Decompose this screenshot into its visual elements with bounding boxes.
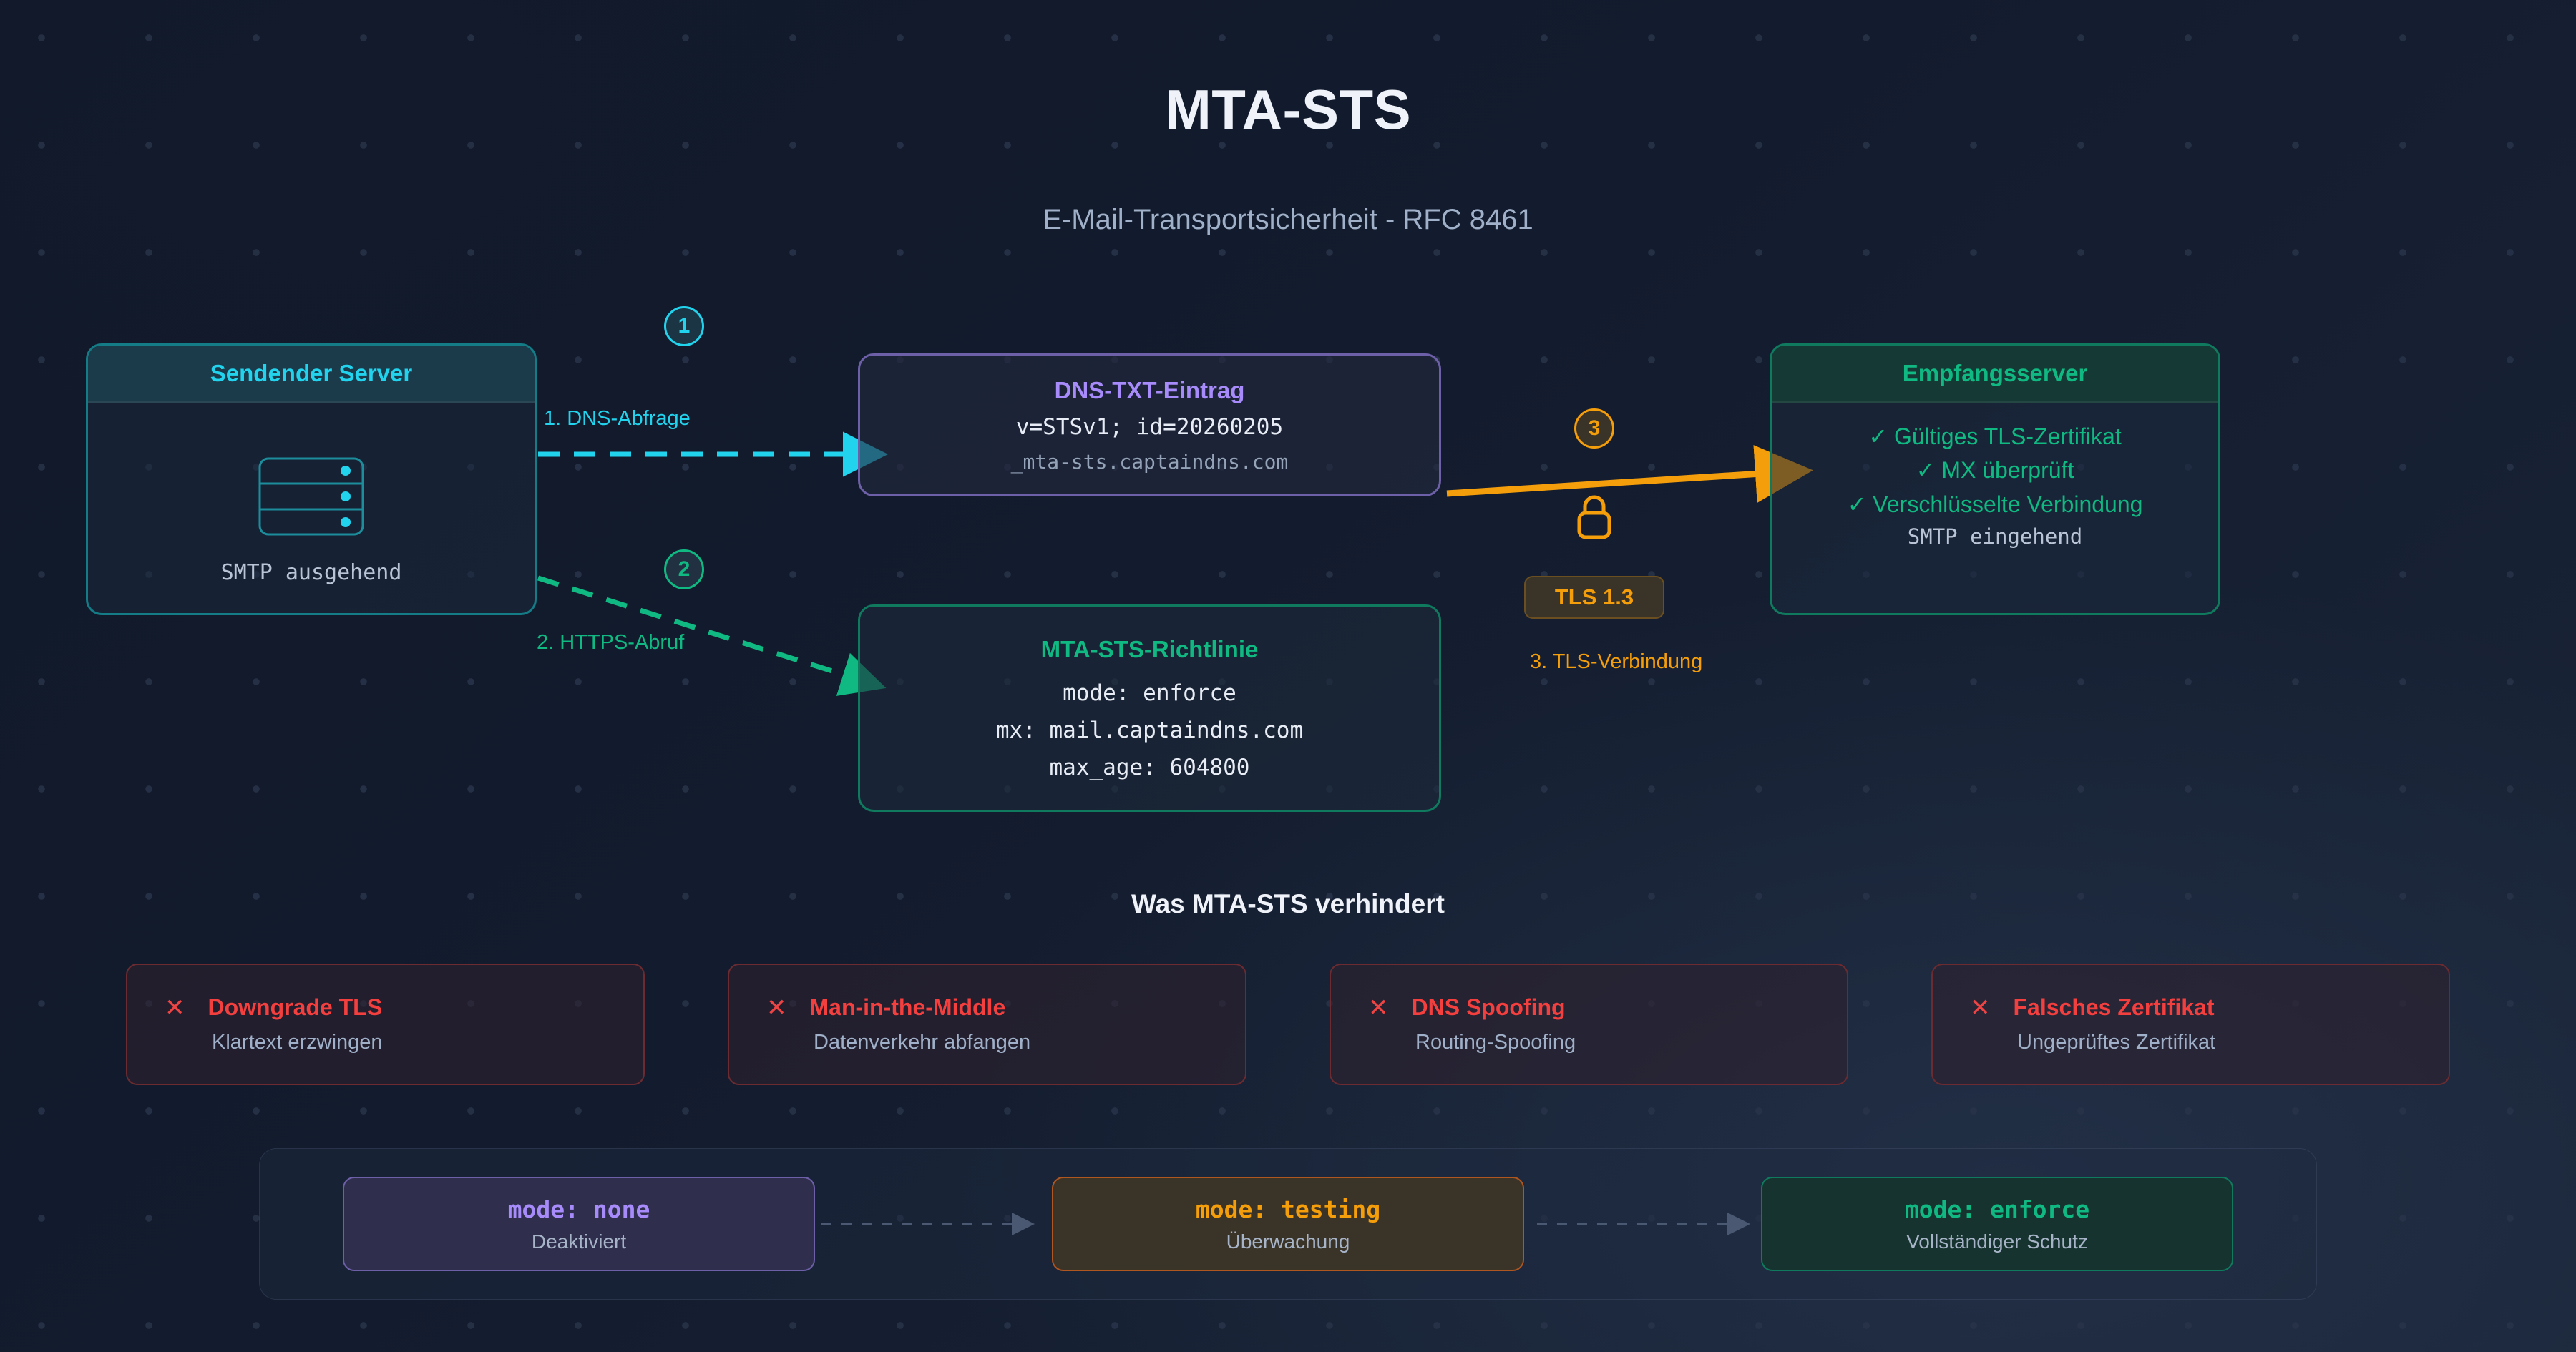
receiving-check-tls-certificate: ✓ Gültiges TLS-Zertifikat bbox=[1868, 420, 2121, 454]
policy-line-max-age: max_age: 604800 bbox=[1050, 755, 1250, 780]
mta-sts-policy-title: MTA-STS-Richtlinie bbox=[1041, 636, 1259, 663]
threat-card-dns-spoofing[interactable]: ✕ DNS Spoofing Routing-Spoofing bbox=[1330, 964, 1848, 1085]
sender-server-title: Sendender Server bbox=[88, 346, 535, 403]
threat-card-falsches-zertifikat[interactable]: ✕ Falsches Zertifikat Ungeprüftes Zertif… bbox=[1931, 964, 2450, 1085]
policy-line-mode: mode: enforce bbox=[1063, 680, 1236, 706]
dns-txt-record-value: v=STSv1; id=20260205 bbox=[1016, 414, 1283, 440]
threats-row: ✕ Downgrade TLS Klartext erzwingen ✕ Man… bbox=[126, 964, 2450, 1085]
tls-version-badge: TLS 1.3 bbox=[1524, 576, 1664, 619]
receiving-check-encrypted: ✓ Verschlüsselte Verbindung bbox=[1848, 488, 2143, 521]
mode-code: mode: enforce bbox=[1905, 1195, 2089, 1223]
threat-title: DNS Spoofing bbox=[1412, 994, 1566, 1021]
node-sender-server[interactable]: Sendender Server SMTP ausgehend bbox=[86, 343, 537, 615]
sender-server-subtitle: SMTP ausgehend bbox=[221, 560, 402, 585]
mode-subtitle: Deaktiviert bbox=[532, 1230, 626, 1253]
mode-card-enforce[interactable]: mode: enforce Vollständiger Schutz bbox=[1761, 1177, 2233, 1271]
threat-subtitle: Datenverkehr abfangen bbox=[766, 1031, 1245, 1054]
mode-progression-panel: mode: none Deaktiviert mode: testing Übe… bbox=[259, 1148, 2317, 1300]
receiving-check-mx-verified: ✓ MX überprüft bbox=[1916, 454, 2074, 487]
node-mta-sts-policy[interactable]: MTA-STS-Richtlinie mode: enforce mx: mai… bbox=[858, 604, 1441, 812]
x-icon: ✕ bbox=[1368, 996, 1389, 1020]
threat-subtitle: Ungeprüftes Zertifikat bbox=[1970, 1031, 2449, 1054]
step-circle-1: 1 bbox=[664, 306, 704, 346]
mode-subtitle: Vollständiger Schutz bbox=[1906, 1230, 2088, 1253]
receiving-server-subtitle: SMTP eingehend bbox=[1908, 524, 2082, 549]
threats-heading: Was MTA-STS verhindert bbox=[0, 889, 2576, 919]
mode-progression-row: mode: none Deaktiviert mode: testing Übe… bbox=[260, 1177, 2316, 1271]
mode-code: mode: none bbox=[508, 1195, 650, 1223]
dns-txt-record-title: DNS-TXT-Eintrag bbox=[1055, 377, 1245, 404]
dns-txt-record-host: _mta-sts.captaindns.com bbox=[1011, 450, 1289, 474]
mode-subtitle: Überwachung bbox=[1226, 1230, 1350, 1253]
lock-icon bbox=[1574, 494, 1614, 539]
threat-card-downgrade-tls[interactable]: ✕ Downgrade TLS Klartext erzwingen bbox=[126, 964, 645, 1085]
server-rack-icon bbox=[258, 457, 364, 536]
x-icon: ✕ bbox=[766, 996, 787, 1020]
threat-title: Falsches Zertifikat bbox=[2014, 994, 2215, 1021]
mode-connector-2 bbox=[1524, 1215, 1761, 1233]
x-icon: ✕ bbox=[1970, 996, 1991, 1020]
step-circle-3: 3 bbox=[1574, 408, 1614, 449]
mode-card-none[interactable]: mode: none Deaktiviert bbox=[343, 1177, 815, 1271]
step-circle-2: 2 bbox=[664, 549, 704, 589]
threat-subtitle: Routing-Spoofing bbox=[1368, 1031, 1847, 1054]
edge-https-fetch bbox=[538, 578, 848, 676]
threat-subtitle: Klartext erzwingen bbox=[165, 1031, 643, 1054]
x-icon: ✕ bbox=[165, 996, 185, 1020]
mode-connector-1 bbox=[815, 1215, 1052, 1233]
edge-label-dns-query: 1. DNS-Abfrage bbox=[544, 407, 691, 431]
threat-title: Downgrade TLS bbox=[208, 994, 383, 1021]
edge-tls-connection bbox=[1447, 474, 1762, 494]
threat-card-man-in-the-middle[interactable]: ✕ Man-in-the-Middle Datenverkehr abfange… bbox=[728, 964, 1246, 1085]
mode-card-testing[interactable]: mode: testing Überwachung bbox=[1052, 1177, 1524, 1271]
node-dns-txt-record[interactable]: DNS-TXT-Eintrag v=STSv1; id=20260205 _mt… bbox=[858, 353, 1441, 496]
edge-label-https-fetch: 2. HTTPS-Abruf bbox=[537, 631, 684, 655]
policy-line-mx: mx: mail.captaindns.com bbox=[996, 717, 1303, 743]
node-receiving-server[interactable]: Empfangsserver ✓ Gültiges TLS-Zertifikat… bbox=[1770, 343, 2220, 615]
mode-code: mode: testing bbox=[1196, 1195, 1380, 1223]
threat-title: Man-in-the-Middle bbox=[810, 994, 1006, 1021]
edge-label-tls-connection: 3. TLS-Verbindung bbox=[1530, 650, 1702, 674]
receiving-server-title: Empfangsserver bbox=[1772, 346, 2218, 403]
